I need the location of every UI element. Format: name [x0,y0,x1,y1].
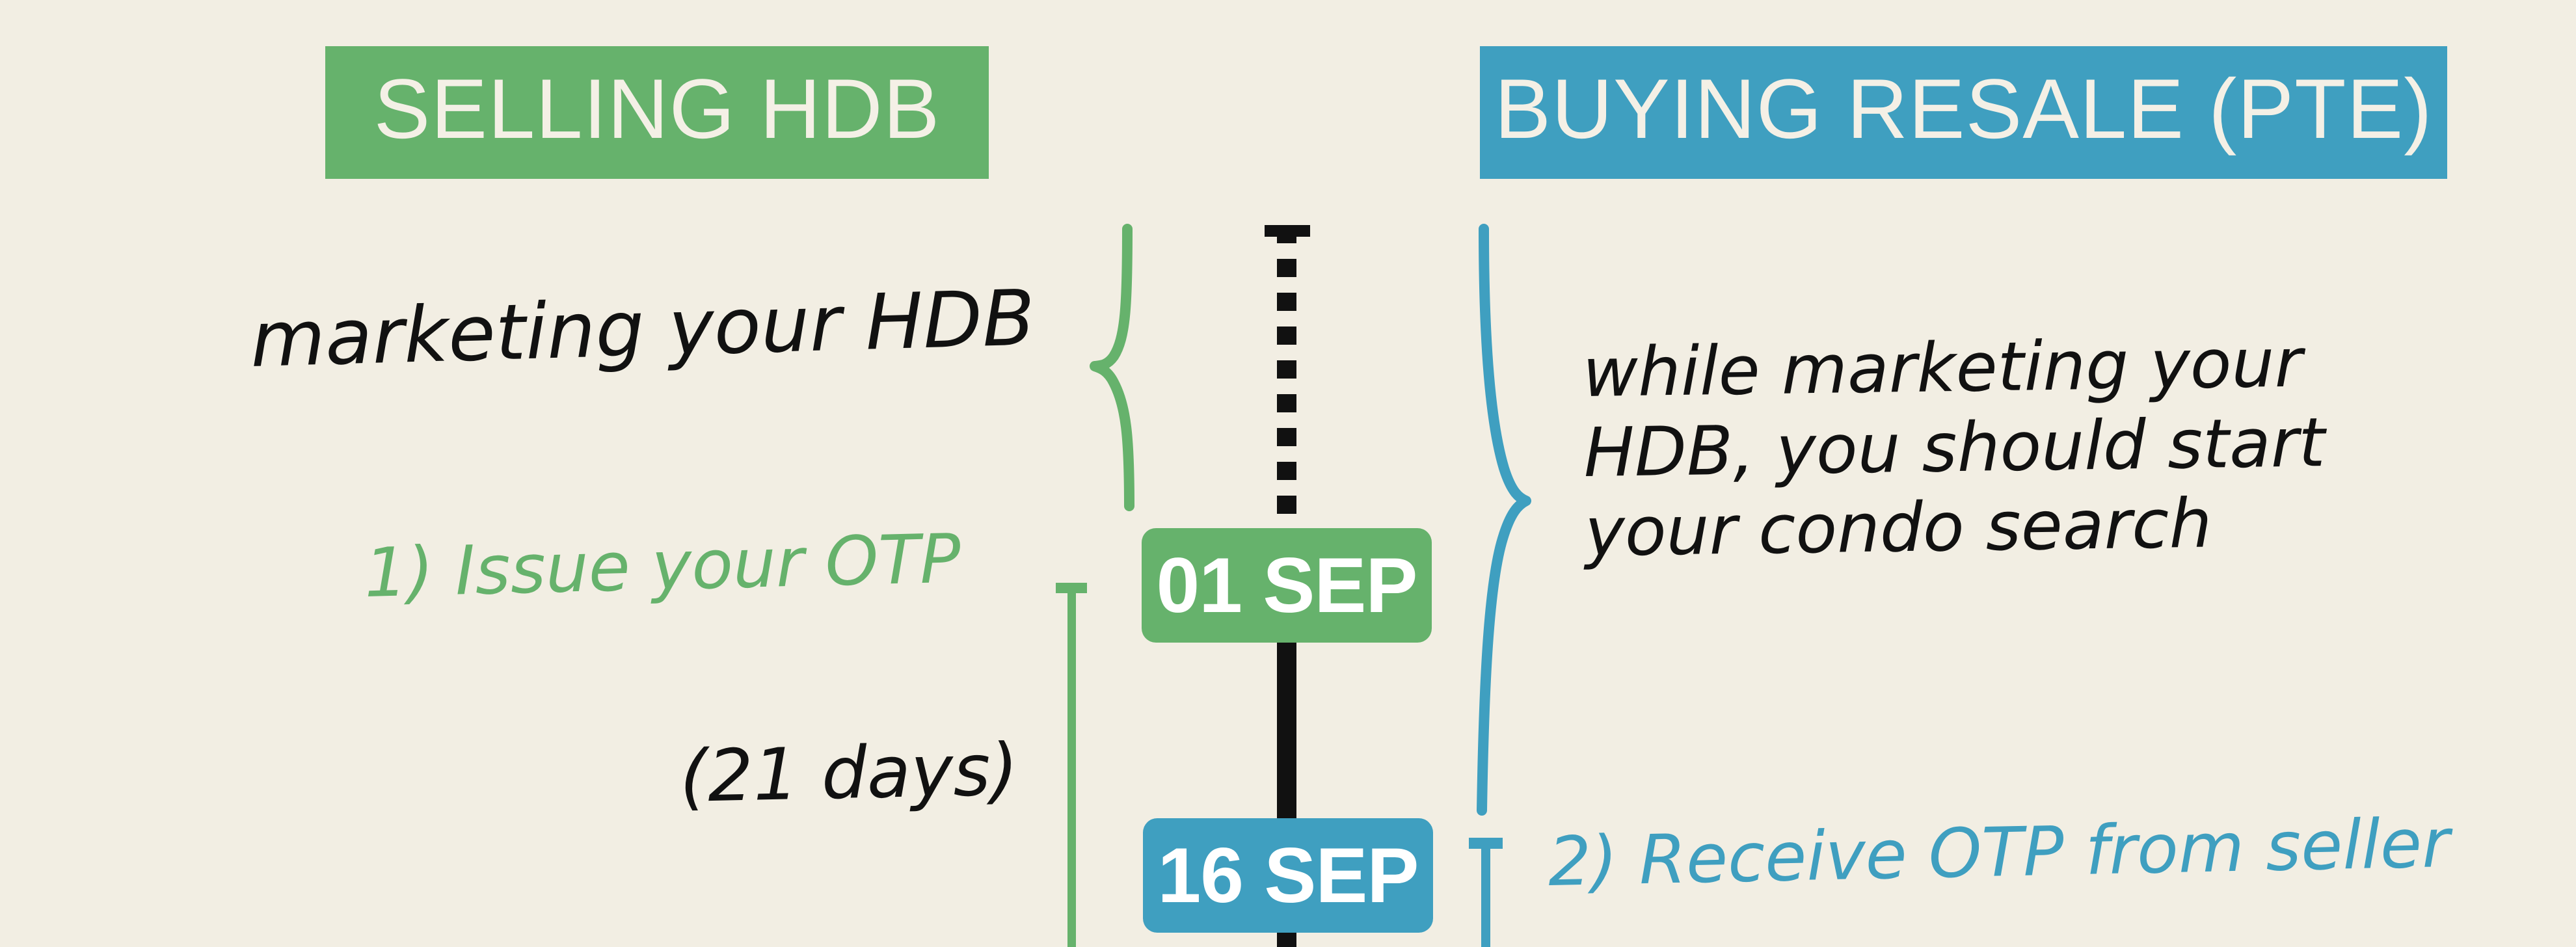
note-start-condo-search: while marketing your HDB, you should sta… [1582,321,2483,572]
timeline-axis-solid-segment-upper [1277,641,1296,820]
infographic-canvas: SELLING HDB BUYING RESALE (PTE) 01 SEP 1… [0,0,2576,947]
column-header-selling-hdb: SELLING HDB [325,46,989,179]
note-start-condo-search-line-3: your condo search [1584,480,2483,572]
milestone-badge-16-sep[interactable]: 16 SEP [1143,818,1433,933]
note-marketing-your-hdb: marketing your HDB [249,278,1036,379]
milestone-badge-01-sep-label: 01 SEP [1157,540,1417,630]
green-duration-bracket-icon [1056,583,1087,947]
column-header-selling-label: SELLING HDB [374,60,941,157]
milestone-badge-16-sep-label: 16 SEP [1158,831,1419,920]
blue-brace-condo-search-icon [1482,229,1526,810]
note-duration-21-days: (21 days) [679,733,1019,813]
milestone-badge-01-sep[interactable]: 01 SEP [1142,528,1432,643]
green-brace-marketing-icon [1095,229,1129,506]
note-step-2-receive-otp: 2) Receive OTP from seller [1548,808,2450,896]
note-step-1-issue-otp: 1) Issue your OTP [364,524,961,607]
note-start-condo-search-line-2: HDB, you should start [1583,400,2482,492]
column-header-buying-resale: BUYING RESALE (PTE) [1480,46,2447,179]
note-start-condo-search-line-1: while marketing your [1582,321,2481,413]
timeline-axis-dashed-segment [1277,225,1296,529]
blue-receive-otp-bracket-icon [1469,838,1503,947]
column-header-buying-label: BUYING RESALE (PTE) [1494,60,2432,157]
